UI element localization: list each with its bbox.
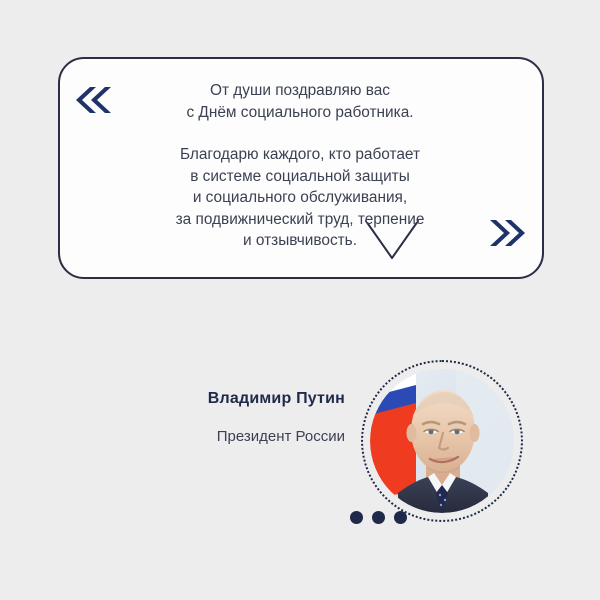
quote-line: От души поздравляю вас xyxy=(210,82,390,99)
quote-line: в системе социальной защиты xyxy=(190,168,410,185)
quote-card: От души поздравляю вас с Днём социальног… xyxy=(0,0,600,600)
quote-line: и социального обслуживания, xyxy=(193,189,407,206)
quote-line: и отзывчивость. xyxy=(243,232,357,249)
portrait-photo xyxy=(370,369,514,513)
double-chevron-right-icon xyxy=(487,218,529,248)
quote-text: От души поздравляю вас с Днём социальног… xyxy=(110,80,490,252)
double-chevron-left-icon xyxy=(72,85,114,115)
dot-icon xyxy=(372,511,385,524)
dot-icon xyxy=(350,511,363,524)
quote-paragraph-2: Благодарю каждого, кто работает в систем… xyxy=(110,144,490,252)
person-role: Президент России xyxy=(60,428,345,445)
attribution: Владимир Путин Президент России xyxy=(60,390,345,445)
dot-icon xyxy=(394,511,407,524)
quote-paragraph-1: От души поздравляю вас с Днём социальног… xyxy=(110,80,490,123)
quote-line: Благодарю каждого, кто работает xyxy=(180,146,420,163)
person-name: Владимир Путин xyxy=(60,390,345,408)
quote-line: с Днём социального работника. xyxy=(186,104,413,121)
quote-line: за подвижнический труд, терпение xyxy=(176,211,425,228)
decorative-dots xyxy=(350,511,407,524)
avatar xyxy=(361,360,523,522)
